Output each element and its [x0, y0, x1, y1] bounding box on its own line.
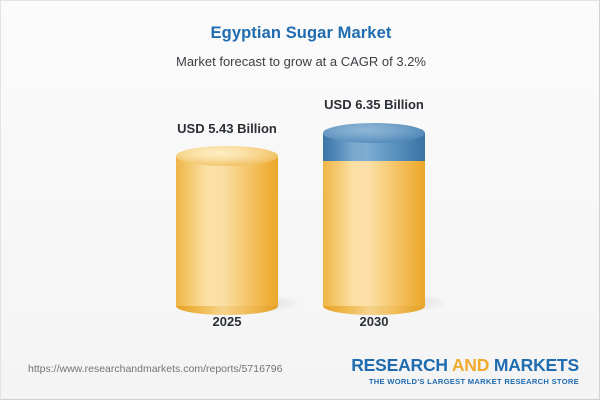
value-label-2030: USD 6.35 Billion — [294, 97, 454, 113]
bar-chart-plot: USD 5.43 Billion 2025 USD 6.35 Billion 2… — [1, 1, 600, 346]
category-label-2025: 2025 — [147, 314, 307, 330]
research-and-markets-logo[interactable]: RESEARCH AND MARKETS THE WORLD'S LARGEST… — [351, 355, 579, 387]
bar-top-cap-gold — [176, 146, 278, 166]
bar-top-cap-blue — [323, 123, 425, 143]
bar-body-gold — [323, 161, 425, 306]
logo-tagline: THE WORLD'S LARGEST MARKET RESEARCH STOR… — [351, 377, 579, 387]
value-label-2025: USD 5.43 Billion — [147, 121, 307, 137]
bar-cylinder-2025[interactable] — [176, 146, 278, 306]
card-footer: https://www.researchandmarkets.com/repor… — [1, 347, 600, 399]
market-forecast-card: Egyptian Sugar Market Market forecast to… — [0, 0, 600, 400]
logo-word-and: AND — [452, 355, 489, 375]
bar-segment-seam — [323, 154, 425, 168]
logo-word-markets: MARKETS — [494, 355, 579, 375]
logo-wordmark: RESEARCH AND MARKETS — [351, 355, 579, 375]
category-label-2030: 2030 — [294, 314, 454, 330]
bar-body-gold — [176, 156, 278, 306]
bar-cylinder-2030[interactable] — [323, 123, 425, 306]
report-url[interactable]: https://www.researchandmarkets.com/repor… — [28, 362, 282, 376]
logo-word-research: RESEARCH — [351, 355, 448, 375]
